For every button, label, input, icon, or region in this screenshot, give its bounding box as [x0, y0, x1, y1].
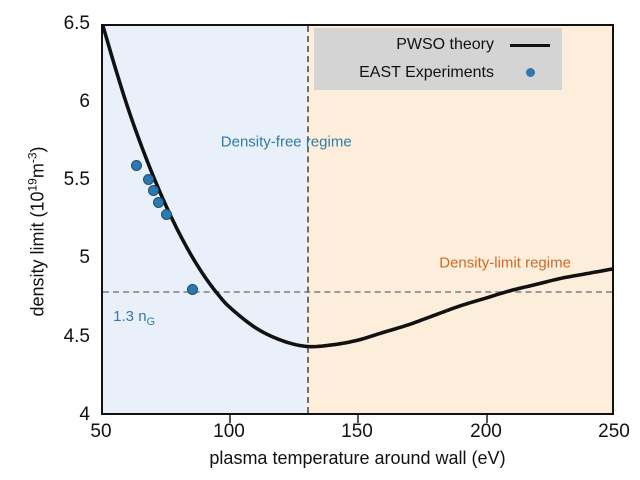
y-axis-label-text: density limit (10	[28, 192, 48, 317]
data-point	[148, 185, 159, 196]
chart-legend: PWSO theory EAST Experiments	[314, 28, 562, 90]
legend-row-theory: PWSO theory	[322, 33, 552, 58]
y-tick-label-6-5: 6.5	[30, 13, 90, 35]
x-axis-label: plasma temperature around wall (eV)	[101, 448, 614, 469]
y-axis-exponent-19: 19	[26, 178, 40, 191]
threshold-density-label: 1.3 nG	[113, 308, 155, 328]
legend-label-east-experiments: EAST Experiments	[359, 64, 494, 82]
x-tick-label-100: 100	[189, 421, 269, 443]
legend-label-pwso-theory: PWSO theory	[396, 36, 494, 54]
data-point	[131, 160, 142, 171]
threshold-subscript-g: G	[147, 316, 156, 328]
x-tick-label-250: 250	[574, 421, 640, 443]
legend-row-experiments: EAST Experiments	[322, 61, 552, 86]
legend-dot-icon	[508, 68, 552, 77]
x-tick-label-200: 200	[446, 421, 526, 443]
threshold-value-text: 1.3 n	[113, 308, 146, 325]
y-axis-unit-m: m	[28, 163, 48, 178]
chart-figure: 6.5 6 5.5 5 4.5 4 50 100 150 200 250 den…	[0, 0, 640, 480]
data-point	[143, 174, 154, 185]
density-limit-regime-label: Density-limit regime	[439, 254, 571, 271]
y-axis-label-close: )	[28, 146, 48, 152]
y-axis-label: density limit (1019m-3)	[26, 107, 49, 357]
density-free-regime-label: Density-free regime	[221, 134, 352, 151]
y-axis-exponent-minus3: -3	[26, 152, 40, 163]
x-tick-label-150: 150	[317, 421, 397, 443]
data-point	[187, 284, 198, 295]
x-tick-label-50: 50	[61, 421, 141, 443]
legend-line-icon	[508, 44, 552, 48]
